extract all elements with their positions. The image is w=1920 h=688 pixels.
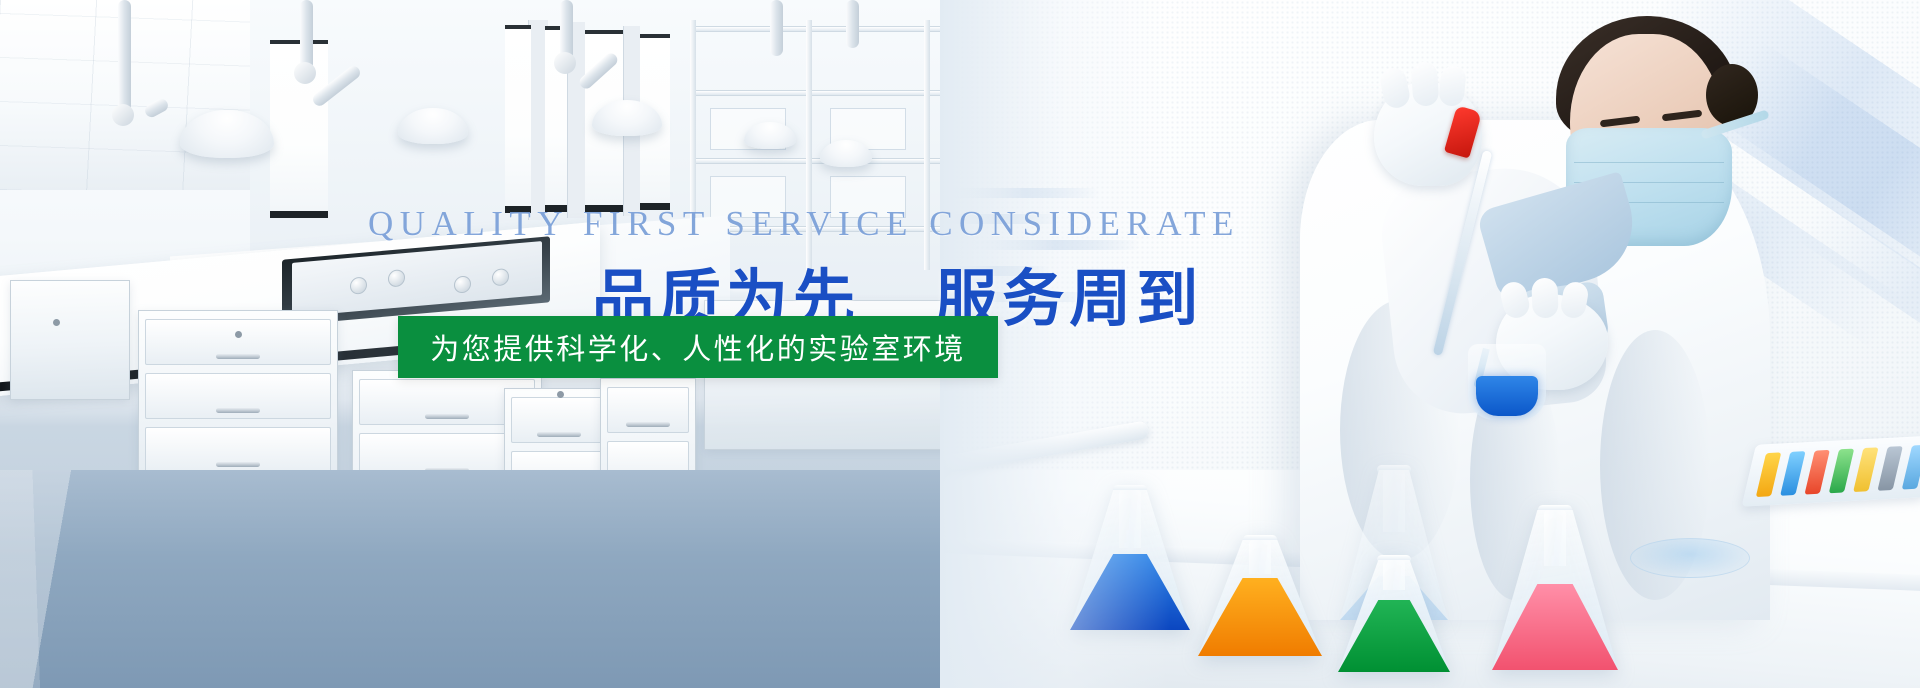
- banner-copy-block: QUALITY FIRST SERVICE CONSIDERATE 品质为先 服…: [0, 0, 1920, 688]
- laboratory-hero-banner: QUALITY FIRST SERVICE CONSIDERATE 品质为先 服…: [0, 0, 1920, 688]
- english-tagline: QUALITY FIRST SERVICE CONSIDERATE: [368, 204, 1228, 244]
- subtitle-bar: 为您提供科学化、人性化的实验室环境: [398, 316, 998, 378]
- subtitle-text: 为您提供科学化、人性化的实验室环境: [430, 326, 966, 368]
